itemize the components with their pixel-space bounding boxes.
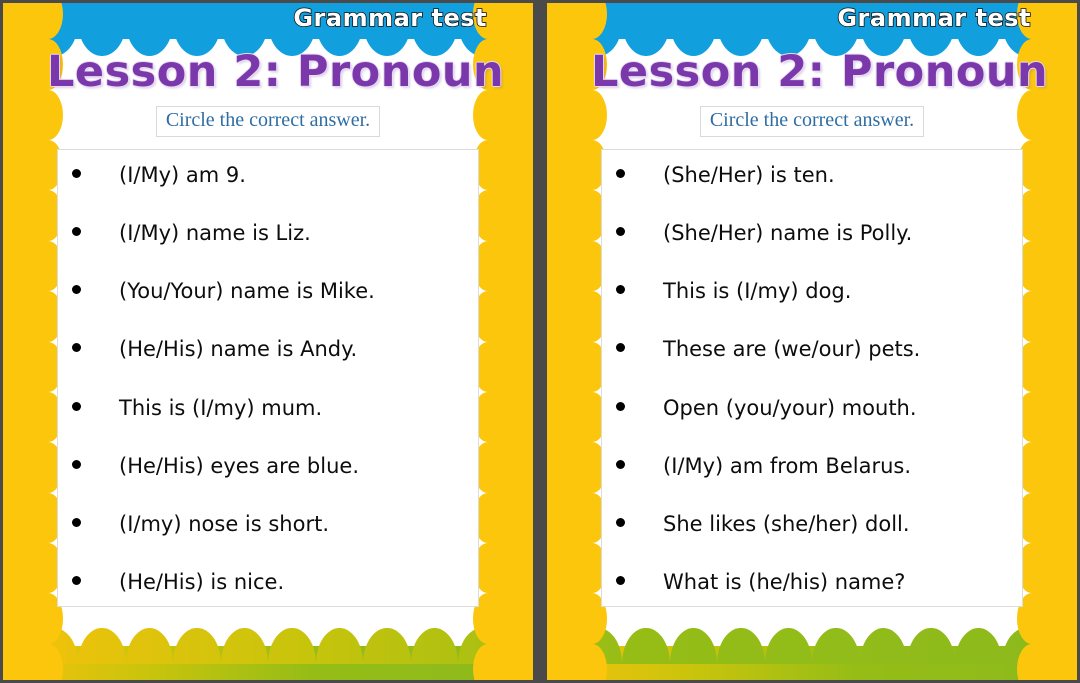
question-text: (He/His) is nice.: [119, 571, 284, 594]
instruction-text: Circle the correct answer.: [700, 106, 924, 137]
list-item[interactable]: This is (I/my) mum.: [64, 397, 472, 420]
list-item[interactable]: (I/My) name is Liz.: [64, 222, 472, 245]
list-item[interactable]: (She/Her) name is Polly.: [608, 222, 1016, 245]
question-text: She likes (she/her) doll.: [663, 513, 910, 536]
header-tag: Grammar test: [293, 4, 487, 32]
list-item[interactable]: Open (you/your) mouth.: [608, 397, 1016, 420]
bullet-icon: [72, 227, 81, 236]
bullet-icon: [616, 343, 625, 352]
list-item[interactable]: (I/my) nose is short.: [64, 513, 472, 536]
bullet-icon: [616, 227, 625, 236]
header-tag: Grammar test: [837, 4, 1031, 32]
question-text: What is (he/his) name?: [663, 571, 905, 594]
slide-left-canvas: Grammar test Lesson 2: Pronoun Circle th…: [3, 3, 533, 680]
question-text: (I/my) nose is short.: [119, 513, 329, 536]
bullet-icon: [72, 285, 81, 294]
bullet-icon: [72, 169, 81, 178]
list-item[interactable]: (He/His) eyes are blue.: [64, 455, 472, 478]
list-item[interactable]: (I/My) am from Belarus.: [608, 455, 1016, 478]
right-decorative-border-left-slide: [489, 3, 533, 680]
list-item[interactable]: What is (he/his) name?: [608, 571, 1016, 594]
left-decorative-border-right-slide: [547, 3, 591, 680]
question-text: These are (we/our) pets.: [663, 338, 920, 361]
question-text: (He/His) eyes are blue.: [119, 455, 359, 478]
bullet-icon: [616, 576, 625, 585]
slide-left[interactable]: Grammar test Lesson 2: Pronoun Circle th…: [0, 0, 536, 683]
question-text: (I/My) name is Liz.: [119, 222, 311, 245]
bullet-icon: [616, 285, 625, 294]
question-text: (He/His) name is Andy.: [119, 338, 357, 361]
list-item[interactable]: (He/His) name is Andy.: [64, 338, 472, 361]
list-item[interactable]: (She/Her) is ten.: [608, 164, 1016, 187]
question-text: (I/My) am 9.: [119, 164, 246, 187]
slide-content-right: Grammar test Lesson 2: Pronoun Circle th…: [591, 3, 1033, 680]
bullet-icon: [616, 402, 625, 411]
slide-content-left: Grammar test Lesson 2: Pronoun Circle th…: [47, 3, 489, 680]
list-item[interactable]: (You/Your) name is Mike.: [64, 280, 472, 303]
bullet-icon: [72, 518, 81, 527]
right-decorative-border-right-slide: [1033, 3, 1077, 680]
list-item[interactable]: (I/My) am 9.: [64, 164, 472, 187]
question-text: (I/My) am from Belarus.: [663, 455, 911, 478]
list-item[interactable]: These are (we/our) pets.: [608, 338, 1016, 361]
slide-separator: [536, 0, 544, 683]
instruction-text: Circle the correct answer.: [156, 106, 380, 137]
question-text: This is (I/my) dog.: [663, 280, 851, 303]
question-text: (She/Her) is ten.: [663, 164, 835, 187]
slide-right-canvas: Grammar test Lesson 2: Pronoun Circle th…: [547, 3, 1077, 680]
bullet-icon: [72, 460, 81, 469]
question-text: (She/Her) name is Polly.: [663, 222, 912, 245]
bullet-icon: [72, 343, 81, 352]
slide-deck: Grammar test Lesson 2: Pronoun Circle th…: [0, 0, 1080, 683]
list-item[interactable]: She likes (she/her) doll.: [608, 513, 1016, 536]
bullet-icon: [616, 518, 625, 527]
list-item[interactable]: (He/His) is nice.: [64, 571, 472, 594]
question-text: (You/Your) name is Mike.: [119, 280, 375, 303]
bullet-icon: [72, 402, 81, 411]
instruction-wrapper: Circle the correct answer.: [591, 106, 1033, 137]
question-box-right: (She/Her) is ten. (She/Her) name is Poll…: [601, 149, 1023, 607]
question-text: This is (I/my) mum.: [119, 397, 322, 420]
question-list-right: (She/Her) is ten. (She/Her) name is Poll…: [608, 164, 1016, 594]
bullet-icon: [72, 576, 81, 585]
question-box-left: (I/My) am 9. (I/My) name is Liz. (You/Yo…: [57, 149, 479, 607]
instruction-wrapper: Circle the correct answer.: [47, 106, 489, 137]
slide-right[interactable]: Grammar test Lesson 2: Pronoun Circle th…: [544, 0, 1080, 683]
bullet-icon: [616, 169, 625, 178]
bullet-icon: [616, 460, 625, 469]
list-item[interactable]: This is (I/my) dog.: [608, 280, 1016, 303]
question-list-left: (I/My) am 9. (I/My) name is Liz. (You/Yo…: [64, 164, 472, 594]
question-text: Open (you/your) mouth.: [663, 397, 917, 420]
left-decorative-border-left-slide: [3, 3, 47, 680]
